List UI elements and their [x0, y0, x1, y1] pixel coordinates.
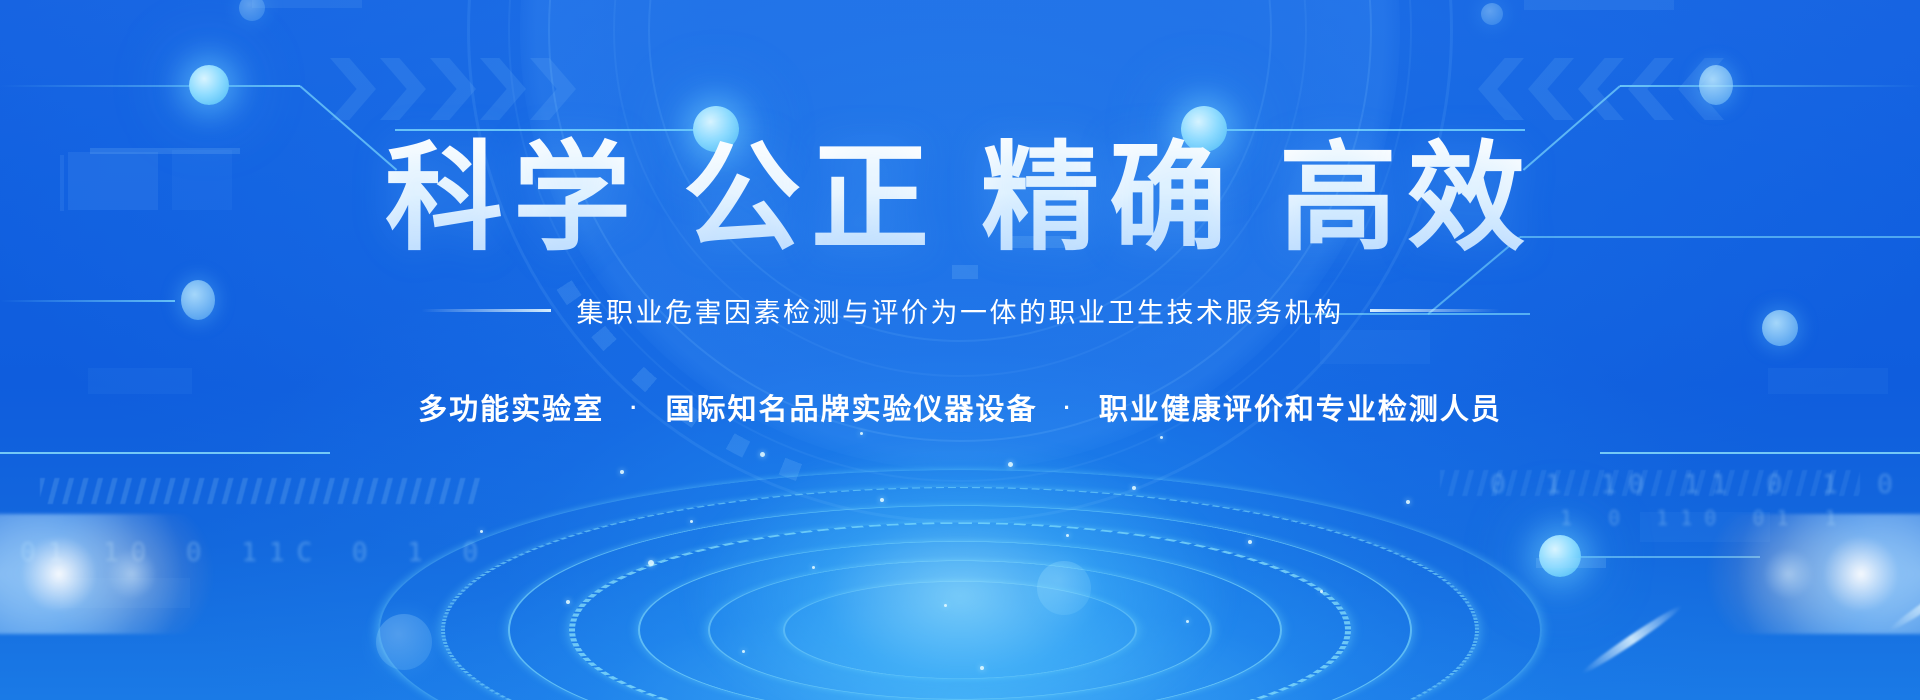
headline-word-1: 科学 — [385, 133, 641, 265]
circuit-trace — [1600, 452, 1920, 454]
subtitle-rule-right — [1370, 309, 1500, 312]
subtitle-row: 集职业危害因素检测与评价为一体的职业卫生技术服务机构 — [0, 291, 1920, 330]
decor-block — [1640, 512, 1770, 542]
radial-ring — [638, 541, 1282, 700]
tagline-item-3: 职业健康评价和专业检测人员 — [1099, 394, 1502, 426]
particle — [1066, 534, 1069, 537]
particle — [980, 666, 984, 670]
particle — [1132, 486, 1136, 490]
particle — [1320, 590, 1323, 593]
circuit-node — [1539, 535, 1581, 577]
decor-block — [1536, 558, 1606, 568]
circuit-node — [1037, 561, 1091, 615]
radial-ring — [783, 581, 1137, 679]
lens-flare-right — [1630, 514, 1920, 634]
radial-ring-dashed — [441, 487, 1479, 700]
decor-code-text: 1 0 110 01 1 — [1560, 506, 1849, 530]
subtitle-text: 集职业危害因素检测与评价为一体的职业卫生技术服务机构 — [577, 291, 1344, 330]
particle — [648, 560, 654, 566]
particle — [1008, 462, 1013, 467]
page-title: 科学公正精确高效 — [0, 0, 1920, 261]
lens-flare-left — [0, 514, 290, 634]
radial-ring — [378, 470, 1542, 700]
tagline-separator: · — [1064, 395, 1073, 421]
radial-ring — [508, 505, 1412, 700]
ground-glow — [0, 440, 1920, 700]
subtitle-rule-left — [421, 309, 551, 312]
hero-banner: 01 10 0 11C 0 1 0 0 1 10 11 0 1 0 1 1 0 … — [0, 0, 1920, 700]
particle — [880, 498, 884, 502]
radial-ring-dashed — [569, 522, 1351, 700]
particle — [1160, 436, 1163, 439]
particle — [742, 650, 745, 653]
headline-word-4: 高效 — [1279, 133, 1535, 265]
particle — [860, 432, 863, 435]
particle — [1248, 540, 1252, 544]
particle — [620, 470, 624, 474]
decor-code-text: 0 1 10 11 0 1 0 1 — [1490, 470, 1920, 500]
decor-code-text: 01 10 0 11C 0 1 0 — [20, 538, 490, 568]
light-streak — [1887, 565, 1920, 634]
data-strip — [1440, 470, 1860, 496]
headline-word-3: 精确 — [981, 133, 1237, 265]
particle — [1406, 500, 1410, 504]
data-strip — [40, 478, 480, 504]
tagline-item-2: 国际知名品牌实验仪器设备 — [665, 394, 1037, 426]
particle — [480, 530, 483, 533]
particle — [944, 604, 947, 607]
headline-word-2: 公正 — [683, 133, 939, 265]
radial-core-glow — [680, 436, 1240, 700]
particle — [1186, 620, 1189, 623]
decor-block — [60, 578, 190, 608]
particle — [690, 520, 693, 523]
banner-content: 科学公正精确高效 集职业危害因素检测与评价为一体的职业卫生技术服务机构 多功能实… — [0, 0, 1920, 428]
tagline-row: 多功能实验室·国际知名品牌实验仪器设备·职业健康评价和专业检测人员 — [0, 386, 1920, 428]
tagline-item-1: 多功能实验室 — [418, 394, 604, 426]
light-streak — [1580, 602, 1685, 677]
particle — [812, 566, 815, 569]
circuit-trace — [1560, 556, 1760, 558]
particle — [566, 600, 570, 604]
circuit-trace — [0, 452, 330, 454]
circuit-node — [376, 614, 432, 670]
particle — [760, 452, 765, 457]
radial-ring — [708, 561, 1212, 700]
tagline-separator: · — [630, 395, 639, 421]
